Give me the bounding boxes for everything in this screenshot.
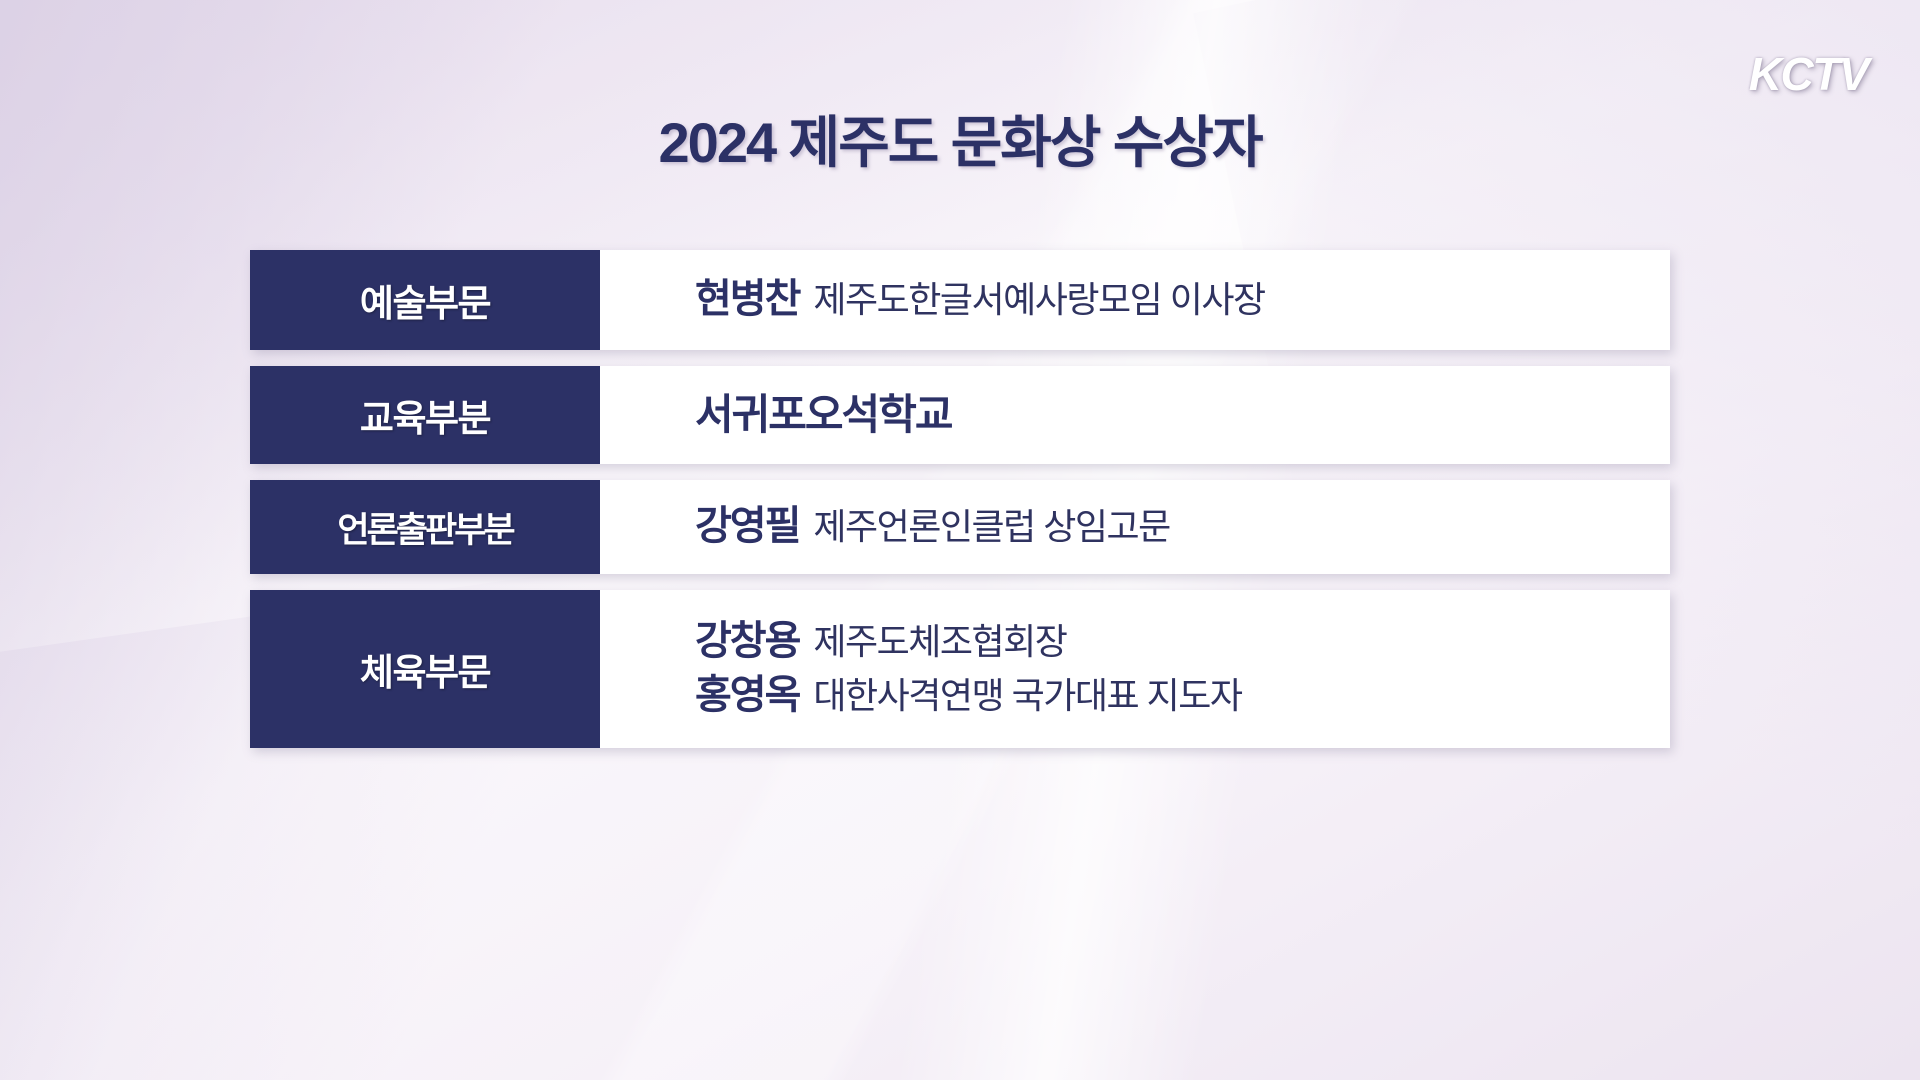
award-winners-table: 예술부문 현병찬제주도한글서예사랑모임 이사장 교육부분 서귀포오석학교 언론출… (250, 250, 1670, 748)
winner-name: 현병찬 (695, 277, 799, 321)
winner-entry: 강영필제주언론인클럽 상임고문 (695, 500, 1670, 554)
kctv-logo: KCTV (1749, 47, 1868, 101)
winner-entry: 강창용제주도체조협회장 (695, 615, 1670, 669)
winner-detail-cell: 강영필제주언론인클럽 상임고문 (600, 480, 1670, 574)
table-row: 예술부문 현병찬제주도한글서예사랑모임 이사장 (250, 250, 1670, 350)
category-label-art: 예술부문 (250, 250, 600, 350)
winner-name: 서귀포오석학교 (695, 391, 951, 438)
winner-entry: 현병찬제주도한글서예사랑모임 이사장 (695, 273, 1670, 327)
table-row: 교육부분 서귀포오석학교 (250, 366, 1670, 464)
winner-name: 강영필 (695, 504, 799, 548)
table-row: 언론출판부분 강영필제주언론인클럽 상임고문 (250, 480, 1670, 574)
winner-title: 제주도체조협회장 (813, 621, 1066, 662)
winner-detail-cell: 강창용제주도체조협회장 홍영옥대한사격연맹 국가대표 지도자 (600, 590, 1670, 748)
category-label-sports: 체육부문 (250, 590, 600, 748)
winner-title: 대한사격연맹 국가대표 지도자 (813, 675, 1241, 716)
winner-entry: 홍영옥대한사격연맹 국가대표 지도자 (695, 669, 1670, 723)
page-title: 2024 제주도 문화상 수상자 (0, 98, 1920, 179)
winner-name: 강창용 (695, 619, 799, 663)
broadcast-graphic-stage: KCTV 2024 제주도 문화상 수상자 예술부문 현병찬제주도한글서예사랑모… (0, 0, 1920, 1080)
winner-name: 홍영옥 (695, 673, 799, 717)
winner-entry: 서귀포오석학교 (695, 387, 1670, 443)
category-label-education: 교육부분 (250, 366, 600, 464)
winner-detail-cell: 서귀포오석학교 (600, 366, 1670, 464)
winner-title: 제주언론인클럽 상임고문 (813, 506, 1169, 547)
table-row: 체육부문 강창용제주도체조협회장 홍영옥대한사격연맹 국가대표 지도자 (250, 590, 1670, 748)
winner-detail-cell: 현병찬제주도한글서예사랑모임 이사장 (600, 250, 1670, 350)
category-label-press-publishing: 언론출판부분 (250, 480, 600, 574)
winner-title: 제주도한글서예사랑모임 이사장 (813, 279, 1264, 320)
